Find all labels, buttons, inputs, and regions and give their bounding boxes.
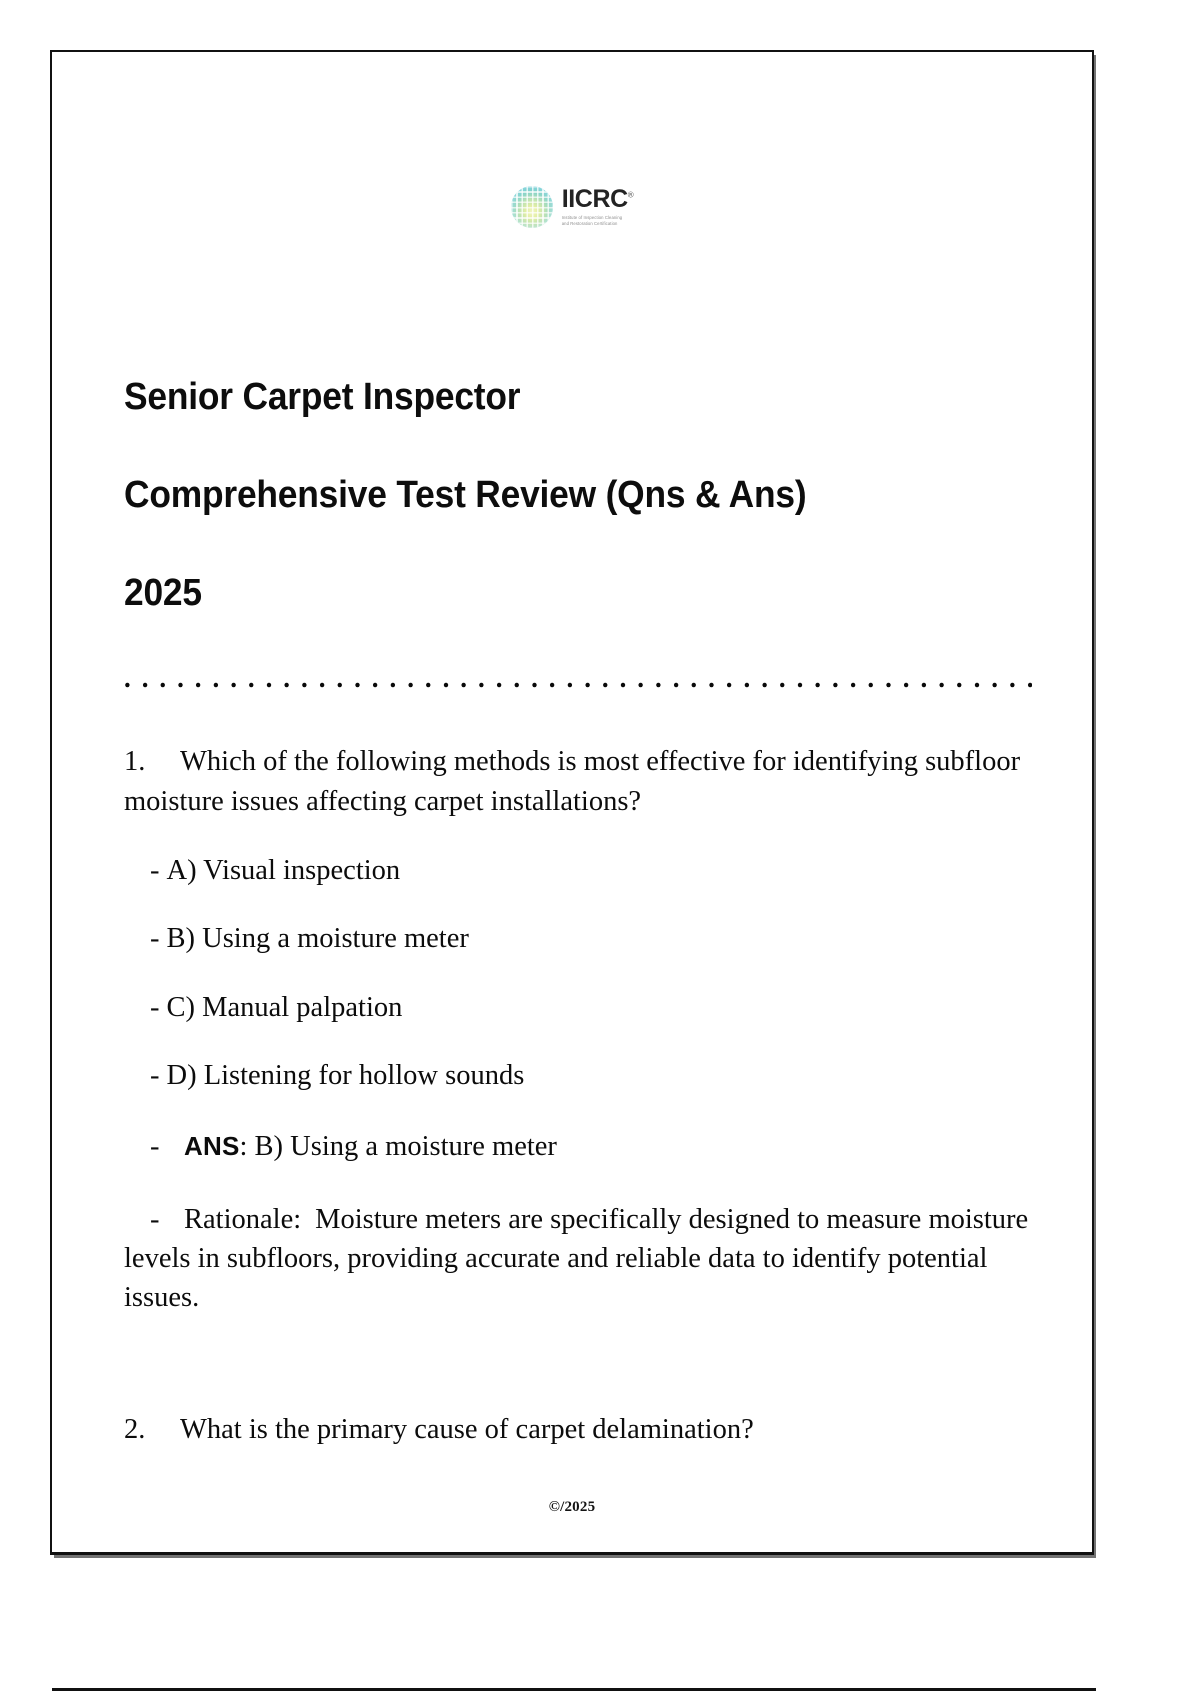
next-page-divider: [52, 1688, 1096, 1691]
option-dash: -: [150, 992, 160, 1023]
registered-trademark-icon: ®: [628, 191, 634, 200]
option-d[interactable]: -D) Listening for hollow sounds: [150, 1056, 1034, 1096]
option-dash: -: [150, 855, 160, 886]
option-label: A) Visual inspection: [167, 855, 401, 886]
iicrc-globe-icon: [511, 186, 553, 228]
questions-container: 1.Which of the following methods is most…: [124, 742, 1034, 1450]
page-content-area: IICRC® Institute of Inspection Cleaning …: [52, 52, 1092, 1552]
page-title-line3: 2025: [124, 574, 968, 612]
question-number: 2.: [124, 1410, 180, 1450]
option-label: C) Manual palpation: [167, 992, 403, 1023]
question-text: 1.Which of the following methods is most…: [124, 742, 1034, 823]
option-c[interactable]: -C) Manual palpation: [150, 988, 1034, 1028]
logo-tagline-line2: and Restoration Certification: [562, 221, 634, 227]
option-dash: -: [150, 1060, 160, 1091]
document-logo: IICRC® Institute of Inspection Cleaning …: [52, 186, 1092, 228]
answer-dash: -: [150, 1127, 184, 1167]
answer-text: : B) Using a moisture meter: [240, 1131, 557, 1162]
option-b[interactable]: -B) Using a moisture meter: [150, 919, 1034, 959]
option-label: D) Listening for hollow sounds: [167, 1060, 525, 1091]
page-footer: ©/2025: [52, 1499, 1092, 1516]
rationale-line: -Rationale:Moisture meters are specifica…: [124, 1201, 1034, 1317]
logo-wordmark: IICRC®: [562, 187, 634, 212]
rationale-dash: -: [150, 1201, 184, 1240]
question-block: 1.Which of the following methods is most…: [124, 742, 1034, 1318]
option-dash: -: [150, 923, 160, 954]
answer-line: -ANS: B) Using a moisture meter: [150, 1127, 1034, 1167]
document-page: IICRC® Institute of Inspection Cleaning …: [50, 50, 1094, 1555]
option-a[interactable]: -A) Visual inspection: [150, 851, 1034, 891]
title-zone: Senior Carpet Inspector Comprehensive Te…: [124, 352, 1032, 612]
logo-text-wrap: IICRC® Institute of Inspection Cleaning …: [562, 187, 634, 227]
question-body: What is the primary cause of carpet dela…: [180, 1414, 754, 1445]
option-label: B) Using a moisture meter: [167, 923, 469, 954]
rationale-tag: Rationale:: [184, 1204, 301, 1235]
answer-tag: ANS: [184, 1131, 240, 1161]
logo-wordmark-text: IICRC: [562, 185, 628, 213]
question-text: 2.What is the primary cause of carpet de…: [124, 1410, 1034, 1450]
question-number: 1.: [124, 742, 180, 782]
page-title-line1: Senior Carpet Inspector: [124, 378, 968, 416]
page-title-line2: Comprehensive Test Review (Qns & Ans): [124, 476, 968, 514]
dotted-divider: . . . . . . . . . . . . . . . . . . . . …: [124, 664, 1032, 692]
question-body: Which of the following methods is most e…: [124, 746, 1020, 817]
logo-block: IICRC® Institute of Inspection Cleaning …: [511, 186, 634, 228]
question-block: 2.What is the primary cause of carpet de…: [124, 1410, 1034, 1450]
